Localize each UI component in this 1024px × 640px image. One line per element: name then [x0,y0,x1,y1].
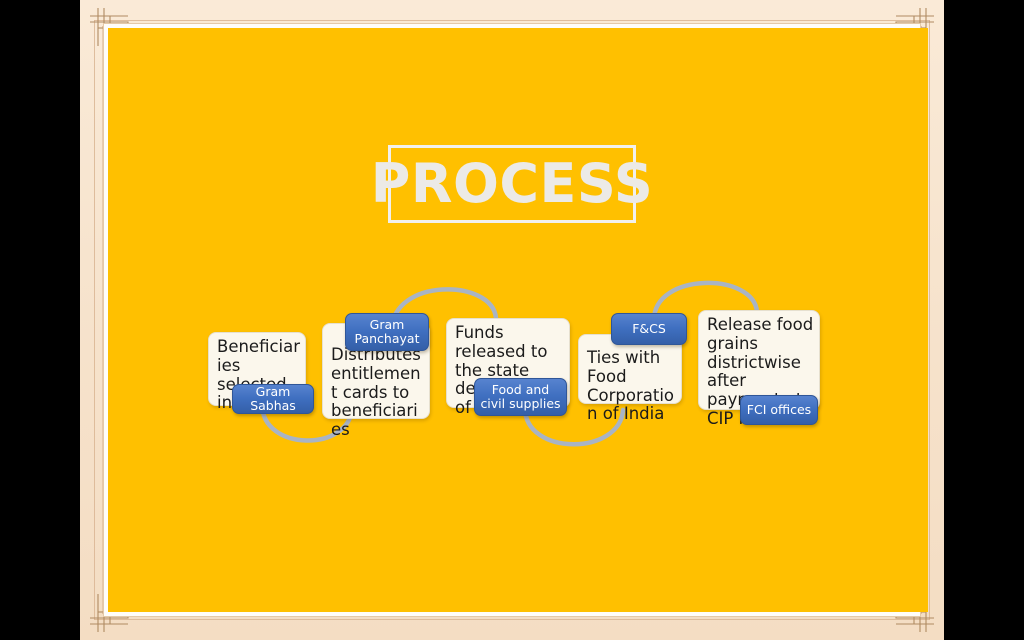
process-node-4-text: Ties with Food Corporation of India [587,349,677,424]
process-badge-3[interactable]: Food and civil supplies [474,378,567,416]
process-badge-5[interactable]: FCI offices [740,395,818,425]
page-title-frame: PROCESS [388,145,636,223]
process-badge-1-label: Gram Sabhas [233,385,313,413]
process-badge-4[interactable]: F&CS [611,313,687,345]
frame-rule-top [94,20,930,21]
process-badge-2-label: Gram Panchayat [346,318,428,346]
frame-rule-right [929,20,930,620]
process-badge-2[interactable]: Gram Panchayat [345,313,429,351]
slide-stage: PROCESS Beneficiaries selected in Gram S… [0,0,1024,640]
process-badge-4-label: F&CS [627,322,671,336]
process-node-2-text: Distributes entitlement cards to benefic… [331,346,425,440]
process-badge-5-label: FCI offices [742,403,816,417]
frame-rule-bottom [94,619,930,620]
frame-rule-left-inner [102,26,103,614]
page-title: PROCESS [371,157,653,211]
frame-rule-left [94,20,95,620]
process-badge-3-label: Food and civil supplies [475,383,566,411]
process-badge-1[interactable]: Gram Sabhas [232,384,314,414]
